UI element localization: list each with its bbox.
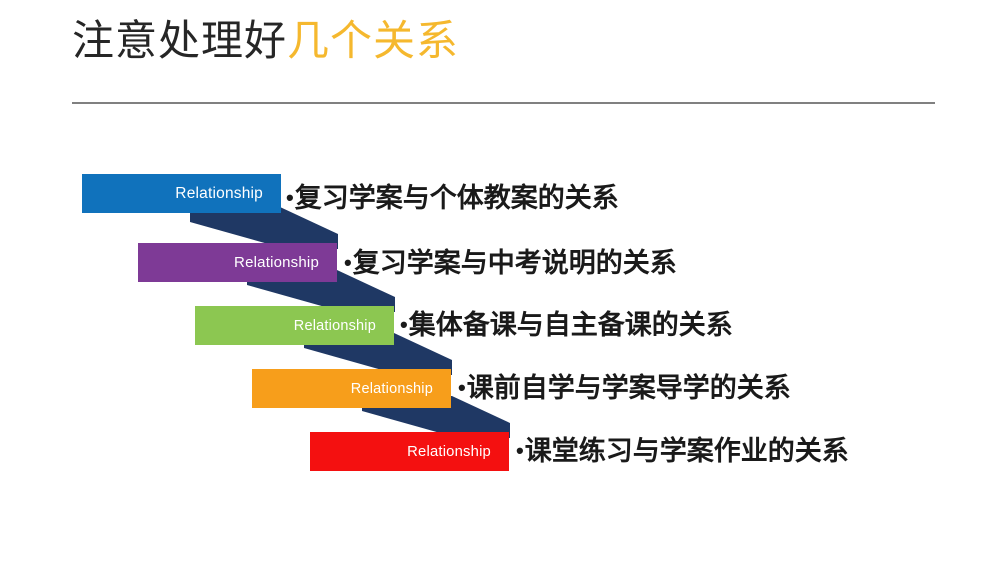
step-text-label-3: 集体备课与自主备课的关系 bbox=[409, 310, 733, 340]
step-badge-5: Relationship bbox=[310, 432, 509, 471]
staircase-diagram: Relationship Relationship Relationship R… bbox=[0, 0, 1000, 562]
bullet-icon-4: • bbox=[458, 375, 467, 400]
step-badge-label-5: Relationship bbox=[407, 444, 491, 460]
step-text-label-1: 复习学案与个体教案的关系 bbox=[295, 183, 619, 213]
step-text-label-4: 课前自学与学案导学的关系 bbox=[467, 373, 791, 403]
slide-canvas: 注意处理好几个关系 Relationship Relationship Rela… bbox=[0, 0, 1000, 562]
step-badge-3: Relationship bbox=[195, 306, 394, 345]
step-text-4: •课前自学与学案导学的关系 bbox=[458, 366, 791, 405]
step-text-label-2: 复习学案与中考说明的关系 bbox=[353, 248, 677, 278]
step-badge-2: Relationship bbox=[138, 243, 337, 282]
step-badge-label-4: Relationship bbox=[351, 381, 433, 397]
step-text-5: •课堂练习与学案作业的关系 bbox=[516, 429, 849, 468]
step-text-2: •复习学案与中考说明的关系 bbox=[344, 241, 677, 280]
step-text-3: •集体备课与自主备课的关系 bbox=[400, 303, 733, 342]
step-badge-label-1: Relationship bbox=[175, 185, 263, 203]
step-text-1: •复习学案与个体教案的关系 bbox=[286, 176, 619, 215]
step-badge-label-2: Relationship bbox=[234, 254, 319, 271]
step-badge-4: Relationship bbox=[252, 369, 451, 408]
step-badge-label-3: Relationship bbox=[294, 318, 376, 334]
step-text-label-5: 课堂练习与学案作业的关系 bbox=[525, 436, 849, 466]
bullet-icon-3: • bbox=[400, 312, 409, 337]
bullet-icon-2: • bbox=[344, 250, 353, 275]
bullet-icon-5: • bbox=[516, 438, 525, 463]
bullet-icon-1: • bbox=[286, 185, 295, 210]
step-badge-1: Relationship bbox=[82, 174, 281, 213]
